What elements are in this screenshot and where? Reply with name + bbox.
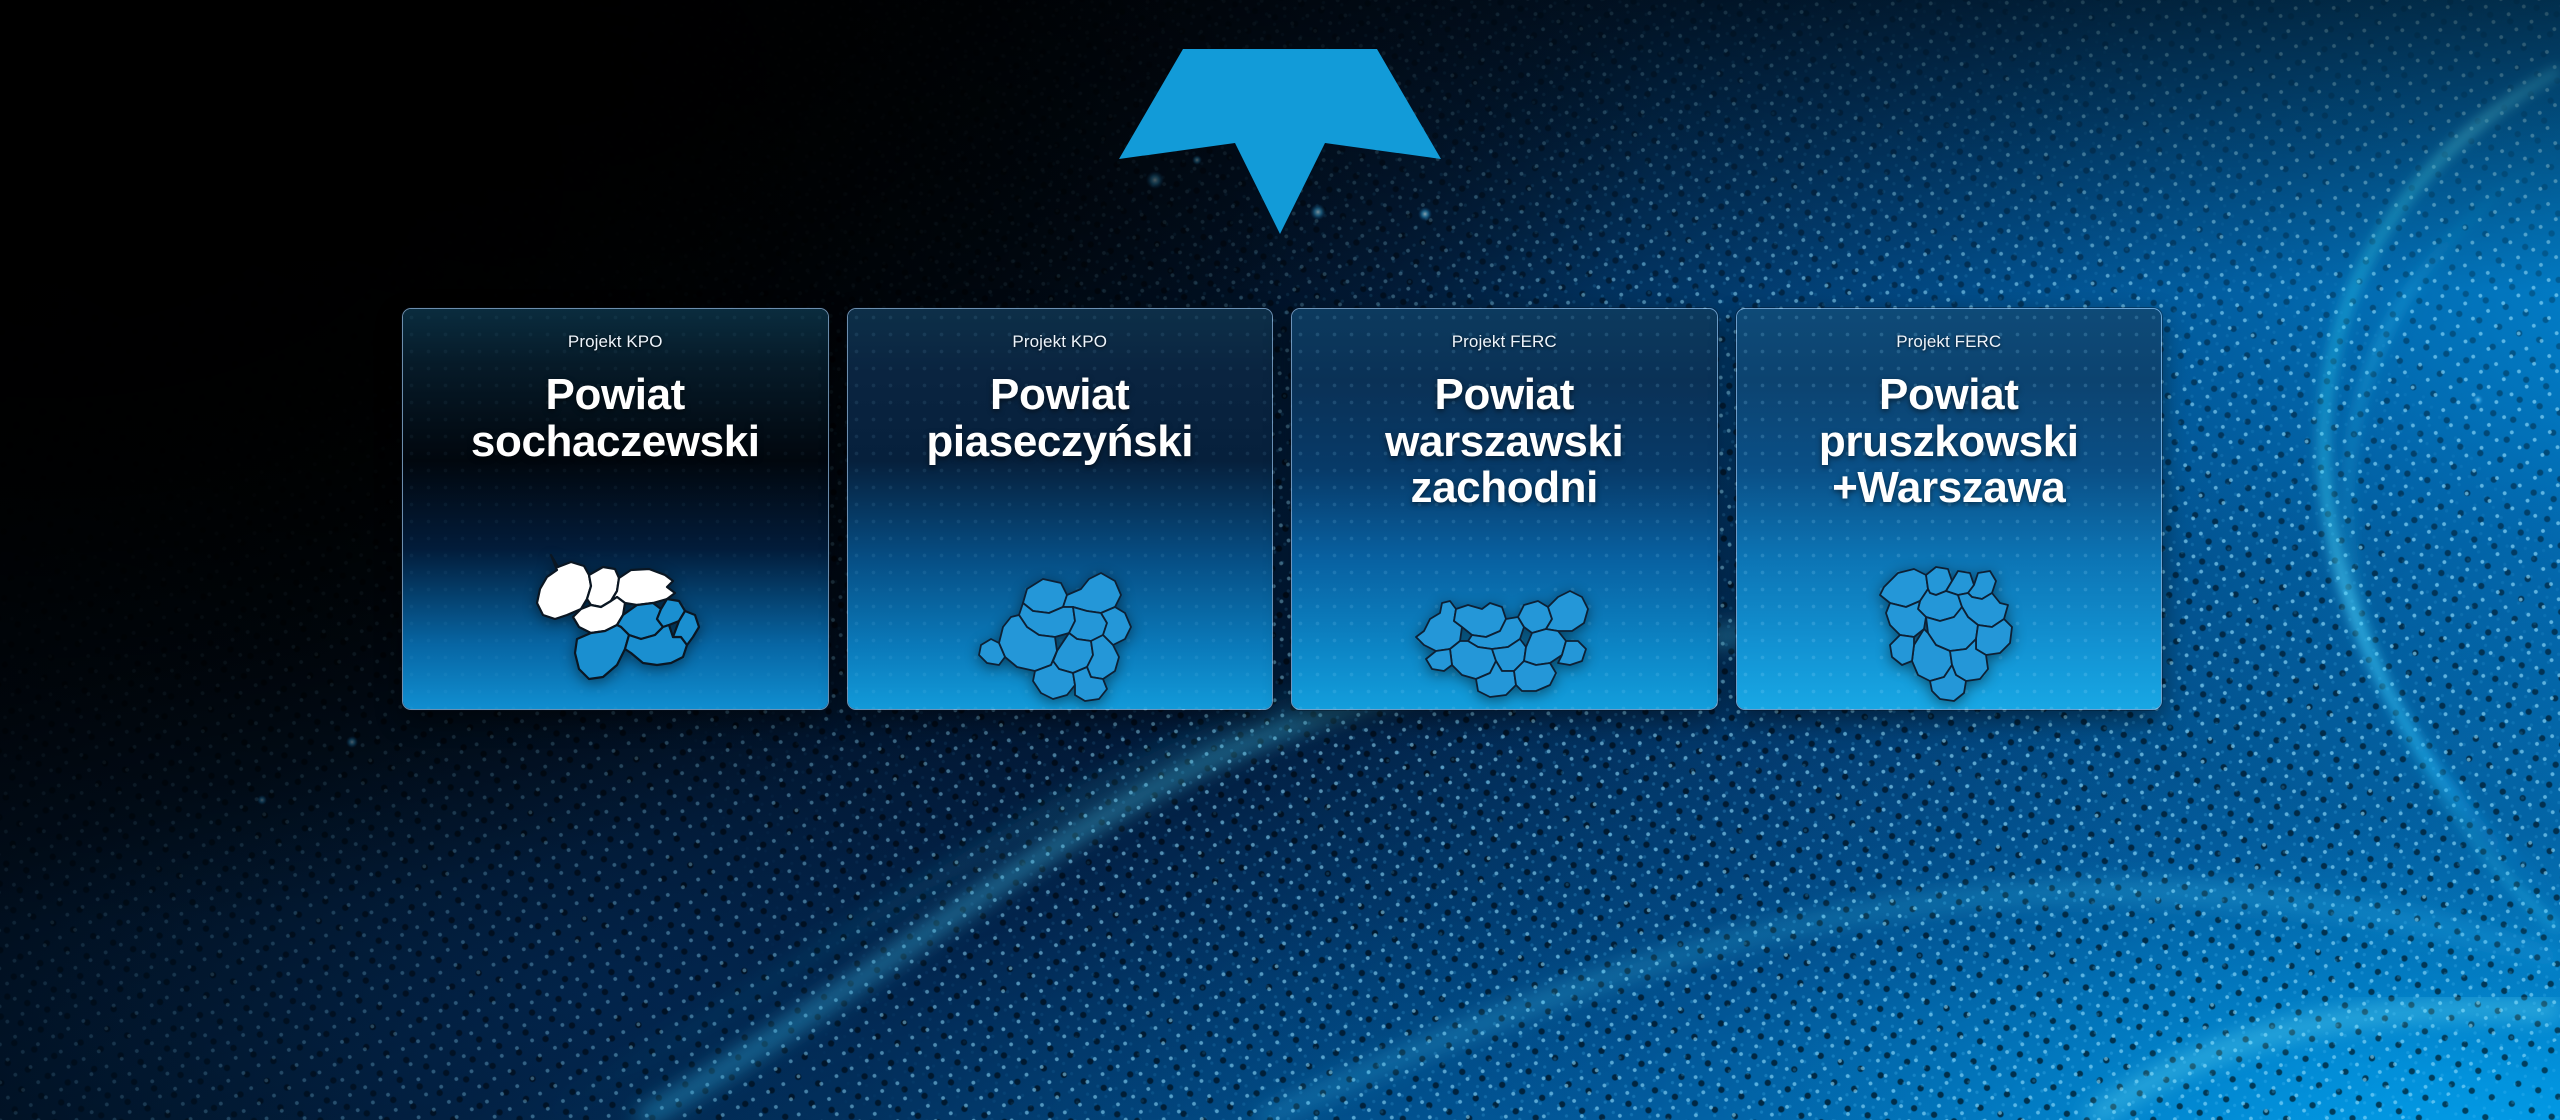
card-title: Powiat pruszkowski +Warszawa <box>1805 372 2093 512</box>
project-card-sochaczewski[interactable]: Projekt KPO Powiat sochaczewski <box>402 308 829 710</box>
card-project-label: Projekt KPO <box>1012 333 1107 350</box>
card-title: Powiat piaseczyński <box>912 372 1207 465</box>
card-project-label: Projekt FERC <box>1452 333 1557 350</box>
map-powiat-warszawski-zachodni <box>1292 533 1717 709</box>
project-card-row: Projekt KPO Powiat sochaczewski <box>402 308 2162 708</box>
card-project-label: Projekt FERC <box>1896 333 2001 350</box>
card-project-label: Projekt KPO <box>568 333 663 350</box>
project-card-piaseczynski[interactable]: Projekt KPO Powiat piaseczyński <box>847 308 1274 710</box>
card-title: Powiat sochaczewski <box>457 372 774 465</box>
card-title: Powiat warszawski zachodni <box>1371 372 1637 512</box>
project-card-warszawski-zachodni[interactable]: Projekt FERC Powiat warszawski zachodni <box>1291 308 1718 710</box>
map-powiat-pruszkowski-warszawa <box>1737 533 2162 709</box>
arrow-chevron-logo <box>1119 49 1441 234</box>
map-powiat-piaseczynski <box>848 533 1273 709</box>
project-card-pruszkowski-warszawa[interactable]: Projekt FERC Powiat pruszkowski +Warszaw… <box>1736 308 2163 710</box>
map-powiat-sochaczewski <box>403 533 828 709</box>
